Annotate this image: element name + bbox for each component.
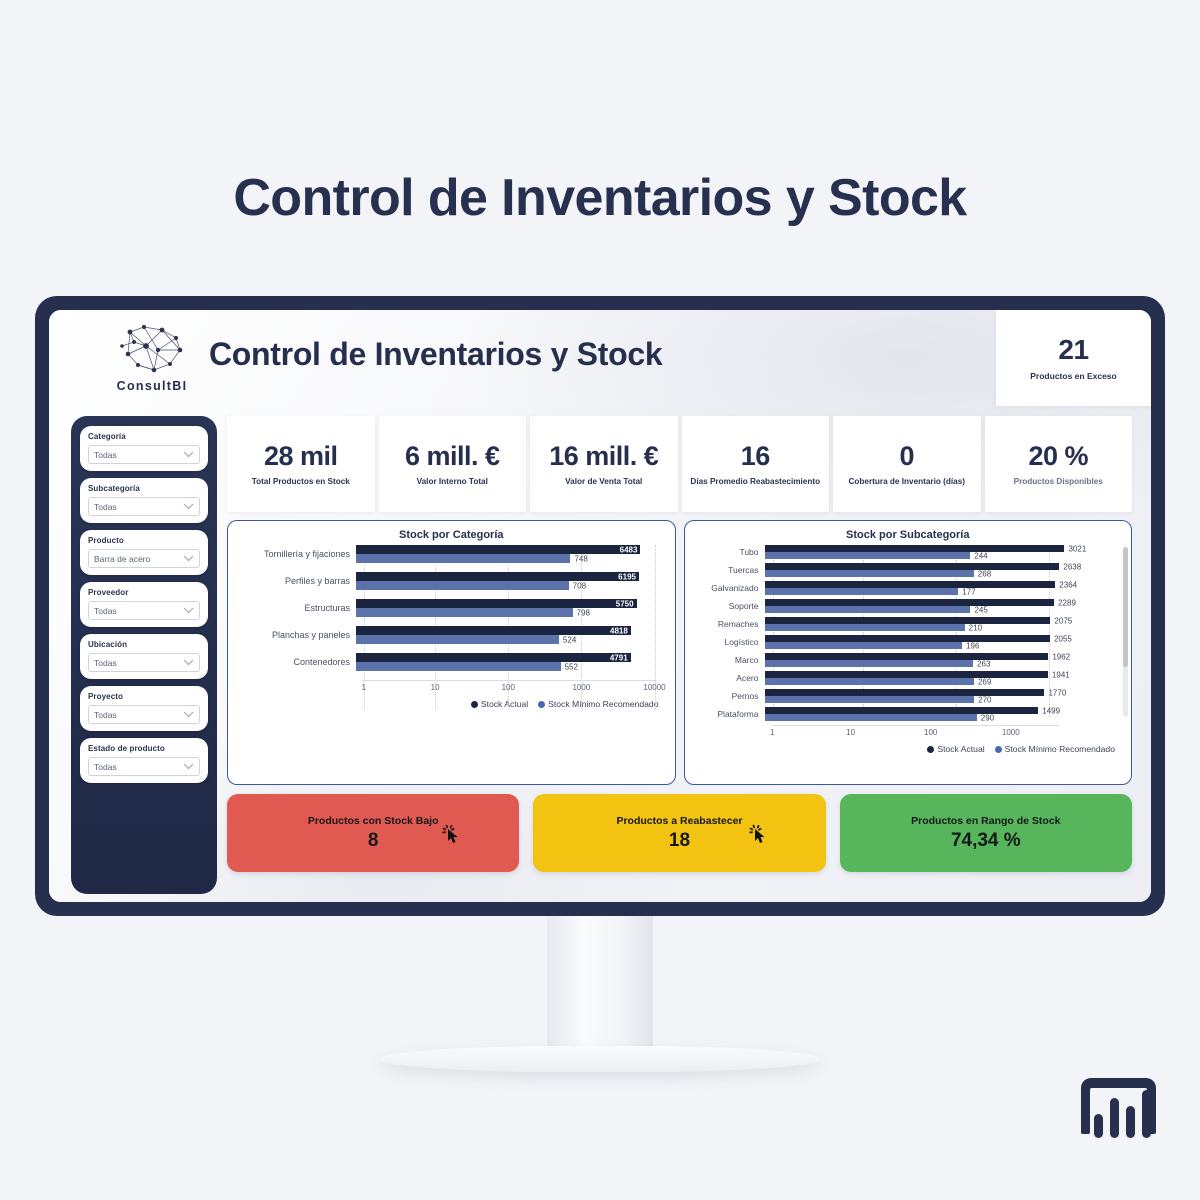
filter-label: Categoría <box>88 432 200 441</box>
axis-tick: 1 <box>362 683 366 692</box>
category-label: Logístico <box>695 637 765 647</box>
bar-stock-actual[interactable]: 1770 <box>765 689 1045 696</box>
bar-value: 4818 <box>610 626 628 635</box>
click-cursor-icon <box>746 822 770 846</box>
chart-row: Acero1941269 <box>695 671 1122 685</box>
bar-value: 1770 <box>1044 688 1066 697</box>
bar-value: 177 <box>958 587 975 596</box>
chart-card-stock-por-categoria: Stock por CategoríaTornillería y fijacio… <box>227 520 676 785</box>
status-value: 74,34 % <box>951 830 1021 852</box>
bar-stock-actual[interactable]: 4791 <box>356 653 631 662</box>
bar-pair: 1941269 <box>765 671 1122 685</box>
filter-value: Todas <box>94 450 117 460</box>
filter-1[interactable]: CategoríaTodas <box>80 426 208 471</box>
dashboard-title: Control de Inventarios y Stock <box>209 336 662 373</box>
kpi-value: 16 mill. € <box>549 442 658 470</box>
filter-select[interactable]: Todas <box>88 653 200 672</box>
click-cursor-icon[interactable] <box>746 822 770 851</box>
chart-row: Tornillería y fijaciones6483748 <box>238 545 665 563</box>
bar-stock-minimo[interactable]: 708 <box>356 581 569 590</box>
category-label: Contenedores <box>238 657 356 667</box>
bar-value: 5750 <box>616 599 634 608</box>
filter-value: Todas <box>94 762 117 772</box>
neural-network-icon <box>110 320 194 378</box>
filter-label: Estado de producto <box>88 744 200 753</box>
kpi-value: 6 mill. € <box>405 442 500 470</box>
kpi-row: 28 milTotal Productos en Stock6 mill. €V… <box>227 416 1132 512</box>
bar-value: 210 <box>965 623 982 632</box>
chart-row: Planchas y paneles4818524 <box>238 626 665 644</box>
monitor-frame: ConsultBI Control de Inventarios y Stock… <box>35 296 1165 916</box>
category-label: Remaches <box>695 619 765 629</box>
filter-label: Proyecto <box>88 692 200 701</box>
filter-value: Todas <box>94 502 117 512</box>
filter-7[interactable]: Estado de productoTodas <box>80 738 208 783</box>
filter-panel: CategoríaTodasSubcategoríaTodasProductoB… <box>71 416 217 894</box>
chart-title: Stock por Subcategoría <box>695 529 1122 541</box>
axis-tick: 1000 <box>572 683 590 692</box>
filter-label: Producto <box>88 536 200 545</box>
bar-pair: 1770270 <box>765 689 1122 703</box>
bar-pair: 2289245 <box>765 599 1122 613</box>
bar-pair: 2364177 <box>765 581 1122 595</box>
status-card-3[interactable]: Productos en Rango de Stock74,34 % <box>840 794 1132 872</box>
filter-6[interactable]: ProyectoTodas <box>80 686 208 731</box>
filter-2[interactable]: SubcategoríaTodas <box>80 478 208 523</box>
bar-pair: 5750798 <box>356 599 665 617</box>
filter-label: Ubicación <box>88 640 200 649</box>
bar-stock-minimo[interactable]: 263 <box>765 660 974 667</box>
legend-item-stock-actual[interactable]: Stock Actual <box>927 744 984 754</box>
bar-value: 268 <box>974 569 991 578</box>
bar-stock-actual[interactable]: 1962 <box>765 653 1049 660</box>
category-label: Tubo <box>695 547 765 557</box>
brand-name: ConsultBI <box>97 379 207 393</box>
status-value: 18 <box>669 830 690 852</box>
chart-legend: Stock ActualStock Mínimo Recomendado <box>695 744 1122 754</box>
status-card-2[interactable]: Productos a Reabastecer18 <box>533 794 825 872</box>
legend-swatch-icon <box>995 746 1002 753</box>
category-label: Acero <box>695 673 765 683</box>
kpi-label: Total Productos en Stock <box>249 477 353 486</box>
axis-tick: 100 <box>502 683 515 692</box>
bar-stock-minimo[interactable]: 245 <box>765 606 971 613</box>
bar-stock-actual[interactable]: 2289 <box>765 599 1055 606</box>
bar-stock-minimo[interactable]: 210 <box>765 624 965 631</box>
dashboard-header: ConsultBI Control de Inventarios y Stock… <box>49 310 1151 408</box>
category-label: Galvanizado <box>695 583 765 593</box>
bar-value: 196 <box>962 641 979 650</box>
filter-select[interactable]: Todas <box>88 497 200 516</box>
chevron-down-icon[interactable] <box>183 710 194 720</box>
bar-stock-actual[interactable]: 1941 <box>765 671 1048 678</box>
filter-value: Todas <box>94 658 117 668</box>
bar-stock-minimo[interactable]: 268 <box>765 570 974 577</box>
filter-5[interactable]: UbicaciónTodas <box>80 634 208 679</box>
legend-label: Stock Actual <box>937 744 984 754</box>
bar-value: 2075 <box>1050 616 1072 625</box>
bar-value: 552 <box>561 662 578 671</box>
legend-item-stock-minimo[interactable]: Stock Mínimo Recomendado <box>538 699 658 709</box>
filter-select[interactable]: Todas <box>88 445 200 464</box>
bar-stock-minimo[interactable]: 798 <box>356 608 573 617</box>
kpi-card-2: 6 mill. €Valor Interno Total <box>379 416 527 512</box>
bar-stock-minimo[interactable]: 269 <box>765 678 974 685</box>
chart-row: Tubo3021244 <box>695 545 1122 559</box>
bar-stock-minimo[interactable]: 748 <box>356 554 570 563</box>
legend-item-stock-minimo[interactable]: Stock Mínimo Recomendado <box>995 744 1115 754</box>
bar-pair: 1499290 <box>765 707 1122 721</box>
kpi-label: Valor Interno Total <box>414 477 491 486</box>
kpi-label: Cobertura de Inventario (días) <box>846 477 968 486</box>
bar-pair: 4791552 <box>356 653 665 671</box>
category-label: Planchas y paneles <box>238 630 356 640</box>
bar-value: 708 <box>569 581 586 590</box>
kpi-value: 21 <box>1058 335 1088 364</box>
legend-label: Stock Mínimo Recomendado <box>548 699 658 709</box>
chart-row: Estructuras5750798 <box>238 599 665 617</box>
kpi-card-1: 28 milTotal Productos en Stock <box>227 416 375 512</box>
bar-stock-actual[interactable]: 3021 <box>765 545 1065 552</box>
kpi-card-4: 16Días Promedio Reabastecimiento <box>682 416 830 512</box>
bar-stock-minimo[interactable]: 290 <box>765 714 977 721</box>
category-label: Plataforma <box>695 709 765 719</box>
chevron-down-icon[interactable] <box>183 502 194 512</box>
bar-pair: 2075210 <box>765 617 1122 631</box>
kpi-card-5: 0Cobertura de Inventario (días) <box>833 416 981 512</box>
charts-row: Stock por CategoríaTornillería y fijacio… <box>227 520 1132 785</box>
click-cursor-icon[interactable] <box>439 822 463 851</box>
chart-x-axis: 1101001000 <box>771 725 1060 739</box>
chart-row: Pernos1770270 <box>695 689 1122 703</box>
bar-stock-actual[interactable]: 6483 <box>356 545 640 554</box>
bar-stock-minimo[interactable]: 177 <box>765 588 959 595</box>
bar-stock-minimo[interactable]: 524 <box>356 635 559 644</box>
brand-logo: ConsultBI <box>97 320 207 393</box>
kpi-label: Valor de Venta Total <box>562 477 645 486</box>
legend-swatch-icon <box>471 701 478 708</box>
bar-stock-minimo[interactable]: 552 <box>356 662 561 671</box>
chart-row: Tuercas2638268 <box>695 563 1122 577</box>
chart-x-axis: 110100100010000 <box>362 680 655 694</box>
kpi-label: Días Promedio Reabastecimiento <box>687 477 823 486</box>
bar-pair: 4818524 <box>356 626 665 644</box>
axis-tick: 1000 <box>1002 728 1020 737</box>
bar-value: 1941 <box>1048 670 1070 679</box>
chart-legend: Stock ActualStock Mínimo Recomendado <box>238 699 665 709</box>
bar-stock-minimo[interactable]: 244 <box>765 552 971 559</box>
chevron-down-icon[interactable] <box>183 762 194 772</box>
page-title: Control de Inventarios y Stock <box>0 168 1200 228</box>
kpi-label: Productos Disponibles <box>1011 477 1106 486</box>
bar-pair: 6483748 <box>356 545 665 563</box>
filter-value: Todas <box>94 710 117 720</box>
bar-value: 290 <box>977 713 994 722</box>
chart-row: Remaches2075210 <box>695 617 1122 631</box>
bar-value: 245 <box>970 605 987 614</box>
bar-stock-minimo[interactable]: 270 <box>765 696 975 703</box>
filter-label: Subcategoría <box>88 484 200 493</box>
bar-pair: 2638268 <box>765 563 1122 577</box>
filter-select[interactable]: Todas <box>88 601 200 620</box>
power-bi-logo-icon <box>1076 1072 1162 1158</box>
bar-value: 1499 <box>1038 706 1060 715</box>
legend-item-stock-actual[interactable]: Stock Actual <box>471 699 528 709</box>
bar-stock-actual[interactable]: 4818 <box>356 626 631 635</box>
chart-title: Stock por Categoría <box>238 529 665 541</box>
kpi-value: 0 <box>899 442 914 470</box>
bar-value: 798 <box>573 608 590 617</box>
filter-label: Proveedor <box>88 588 200 597</box>
chart-card-stock-por-subcategoria: Stock por SubcategoríaTubo3021244Tuercas… <box>684 520 1133 785</box>
bar-value: 6195 <box>618 572 636 581</box>
bar-value: 748 <box>570 554 587 563</box>
axis-tick: 10 <box>431 683 440 692</box>
legend-swatch-icon <box>538 701 545 708</box>
bar-value: 263 <box>973 659 990 668</box>
category-label: Soporte <box>695 601 765 611</box>
dashboard-screen: ConsultBI Control de Inventarios y Stock… <box>49 310 1151 902</box>
bar-value: 270 <box>974 695 991 704</box>
bar-value: 524 <box>559 635 576 644</box>
filter-select[interactable]: Todas <box>88 705 200 724</box>
bar-pair: 6195708 <box>356 572 665 590</box>
chart-plot: Tornillería y fijaciones6483748Perfiles … <box>238 545 665 671</box>
axis-tick: 100 <box>924 728 937 737</box>
bar-stock-minimo[interactable]: 196 <box>765 642 963 649</box>
chart-scrollbar[interactable] <box>1123 547 1128 717</box>
category-label: Tornillería y fijaciones <box>238 549 356 559</box>
bar-value: 269 <box>974 677 991 686</box>
bar-pair: 1962263 <box>765 653 1122 667</box>
filter-3[interactable]: ProductoBarra de acero <box>80 530 208 575</box>
bar-value: 244 <box>970 551 987 560</box>
category-label: Tuercas <box>695 565 765 575</box>
category-label: Estructuras <box>238 603 356 613</box>
status-cards-row: Productos con Stock Bajo8Productos a Rea… <box>227 794 1132 872</box>
bar-stock-actual[interactable]: 1499 <box>765 707 1039 714</box>
chevron-down-icon[interactable] <box>183 554 194 564</box>
category-label: Marco <box>695 655 765 665</box>
filter-value: Barra de acero <box>94 554 150 564</box>
chart-row: Galvanizado2364177 <box>695 581 1122 595</box>
bar-pair: 2055196 <box>765 635 1122 649</box>
axis-tick: 10000 <box>643 683 665 692</box>
status-card-1[interactable]: Productos con Stock Bajo8 <box>227 794 519 872</box>
legend-label: Stock Mínimo Recomendado <box>1005 744 1115 754</box>
chart-row: Soporte2289245 <box>695 599 1122 613</box>
bar-pair: 3021244 <box>765 545 1122 559</box>
bar-stock-actual[interactable]: 2638 <box>765 563 1060 570</box>
kpi-label: Productos en Exceso <box>1027 371 1119 381</box>
bar-value: 2289 <box>1054 598 1076 607</box>
bar-value: 2364 <box>1055 580 1077 589</box>
filter-select[interactable]: Todas <box>88 757 200 776</box>
category-label: Pernos <box>695 691 765 701</box>
bar-stock-actual[interactable]: 2364 <box>765 581 1056 588</box>
chevron-down-icon[interactable] <box>183 450 194 460</box>
status-label: Productos a Reabastecer <box>616 815 742 827</box>
chart-row: Logístico2055196 <box>695 635 1122 649</box>
chevron-down-icon[interactable] <box>183 606 194 616</box>
axis-tick: 1 <box>770 728 774 737</box>
status-label: Productos con Stock Bajo <box>308 815 439 827</box>
kpi-value: 20 % <box>1028 442 1088 470</box>
bar-value: 4791 <box>610 653 628 662</box>
kpi-card-3: 16 mill. €Valor de Venta Total <box>530 416 678 512</box>
kpi-value: 28 mil <box>264 442 338 470</box>
legend-swatch-icon <box>927 746 934 753</box>
chart-plot: Tubo3021244Tuercas2638268Galvanizado2364… <box>695 545 1122 721</box>
chart-row: Perfiles y barras6195708 <box>238 572 665 590</box>
bar-stock-actual[interactable]: 5750 <box>356 599 637 608</box>
legend-label: Stock Actual <box>481 699 528 709</box>
bar-stock-actual[interactable]: 2075 <box>765 617 1051 624</box>
bar-value: 3021 <box>1064 544 1086 553</box>
filter-value: Todas <box>94 606 117 616</box>
kpi-card-6: 20 %Productos Disponibles <box>985 416 1133 512</box>
chart-row: Plataforma1499290 <box>695 707 1122 721</box>
chart-row: Marco1962263 <box>695 653 1122 667</box>
axis-tick: 10 <box>846 728 855 737</box>
bar-stock-actual[interactable]: 2055 <box>765 635 1051 642</box>
bar-value: 1962 <box>1048 652 1070 661</box>
bar-stock-actual[interactable]: 6195 <box>356 572 639 581</box>
bar-value: 6483 <box>620 545 638 554</box>
monitor-base <box>380 1046 820 1072</box>
status-label: Productos en Rango de Stock <box>911 815 1060 827</box>
status-value: 8 <box>368 830 379 852</box>
filter-4[interactable]: ProveedorTodas <box>80 582 208 627</box>
chart-row: Contenedores4791552 <box>238 653 665 671</box>
kpi-card-productos-en-exceso: 21 Productos en Exceso <box>996 310 1151 406</box>
click-cursor-icon <box>439 822 463 846</box>
monitor-neck <box>547 916 653 1056</box>
bar-value: 2638 <box>1059 562 1081 571</box>
bar-value: 2055 <box>1050 634 1072 643</box>
kpi-value: 16 <box>741 442 770 470</box>
category-label: Perfiles y barras <box>238 576 356 586</box>
chevron-down-icon[interactable] <box>183 658 194 668</box>
filter-select[interactable]: Barra de acero <box>88 549 200 568</box>
